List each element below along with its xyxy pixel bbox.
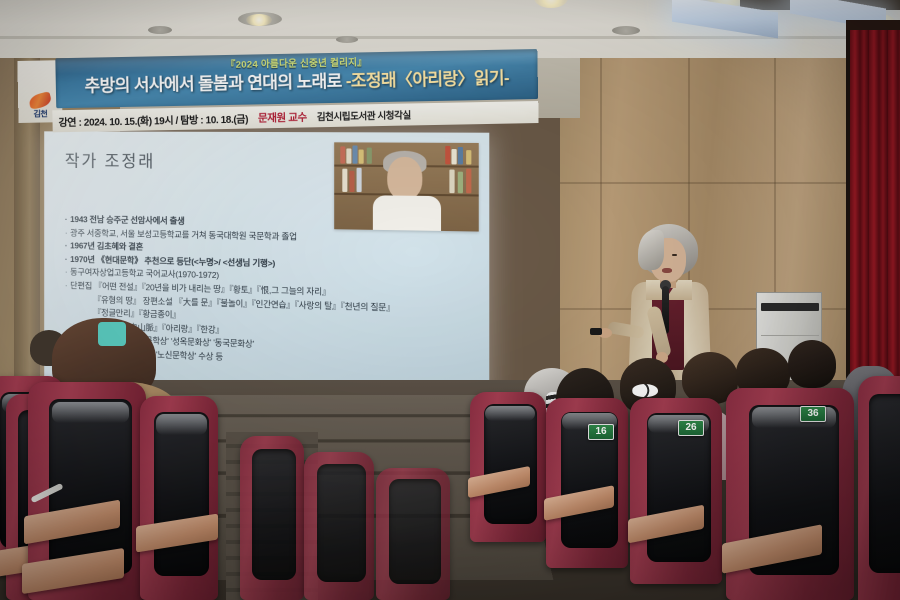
seat-highlight xyxy=(52,402,130,424)
book xyxy=(340,146,345,163)
audience-head xyxy=(98,322,126,346)
wall-seam xyxy=(600,58,602,408)
downlight xyxy=(148,26,172,34)
cabinet-vent xyxy=(761,303,819,311)
seat-cushion xyxy=(389,479,441,585)
banner-title-main: 추방의 서사에서 돌봄과 연대의 노래로 xyxy=(84,72,346,96)
lecturer-hair-fringe xyxy=(638,230,664,270)
seat-number-badge: 26 xyxy=(678,420,704,436)
seat-cushion xyxy=(869,394,900,573)
book xyxy=(352,145,357,163)
book xyxy=(466,169,471,194)
seat[interactable]: 26 xyxy=(630,398,722,584)
book xyxy=(367,148,372,164)
book xyxy=(466,150,471,164)
wall-seam xyxy=(560,182,850,184)
hair-ribbon-bow xyxy=(632,384,658,397)
downlight xyxy=(612,26,640,35)
book xyxy=(451,149,456,164)
book xyxy=(458,172,463,194)
book xyxy=(357,168,362,192)
seat-highlight xyxy=(485,406,535,421)
seat[interactable] xyxy=(304,452,374,600)
seat-highlight xyxy=(156,414,207,434)
gimcheon-city-logo-icon xyxy=(28,91,53,110)
book xyxy=(458,147,463,164)
downlight xyxy=(336,36,358,43)
banner-headline-bar: 『2024 아름다운 신중년 컬리지』 추방의 서사에서 돌봄과 연대의 노래로… xyxy=(55,49,538,108)
book xyxy=(359,150,364,164)
seat[interactable] xyxy=(376,468,450,600)
lecture-hall-photo: 작가 조정래 xyxy=(0,0,900,600)
ceiling-spotlight xyxy=(534,0,568,8)
cabinet-seam xyxy=(761,335,819,336)
audience-head xyxy=(788,340,836,388)
banner-venue: 김천시립도서관 시청각실 xyxy=(317,107,411,123)
ceiling-spotlight xyxy=(246,14,272,26)
stage-curtain xyxy=(846,30,900,390)
seat-cushion xyxy=(317,464,366,582)
seat[interactable] xyxy=(470,392,546,542)
seat[interactable] xyxy=(858,376,900,600)
book xyxy=(342,169,347,192)
event-banner: 김천 『2024 아름다운 신중년 컬리지』 추방의 서사에서 돌봄과 연대의 … xyxy=(17,47,538,137)
lecturer-mouth xyxy=(662,268,672,273)
presentation-clicker xyxy=(590,328,602,335)
seat-cushion xyxy=(252,449,297,580)
seat-number-badge: 36 xyxy=(800,406,826,422)
seat-cushion xyxy=(484,404,537,524)
seat[interactable] xyxy=(240,436,304,600)
eye xyxy=(672,254,677,256)
book xyxy=(449,170,454,194)
seat[interactable]: 16 xyxy=(546,398,628,568)
banner-speaker-name: 문재원 교수 xyxy=(258,109,307,125)
city-logo-label: 김천 xyxy=(33,108,47,119)
banner-date-info: 강연 : 2024. 10. 15.(화) 19시 / 탐방 : 10. 18.… xyxy=(58,110,248,129)
banner-title-highlight: -조정래〈아리랑〉읽기- xyxy=(346,69,510,91)
seat-cushion xyxy=(154,412,209,575)
book xyxy=(346,148,351,163)
book xyxy=(445,146,450,164)
book xyxy=(349,171,354,192)
seat-number-badge: 16 xyxy=(588,424,614,440)
portrait-face xyxy=(387,157,422,200)
seat[interactable] xyxy=(140,396,218,600)
